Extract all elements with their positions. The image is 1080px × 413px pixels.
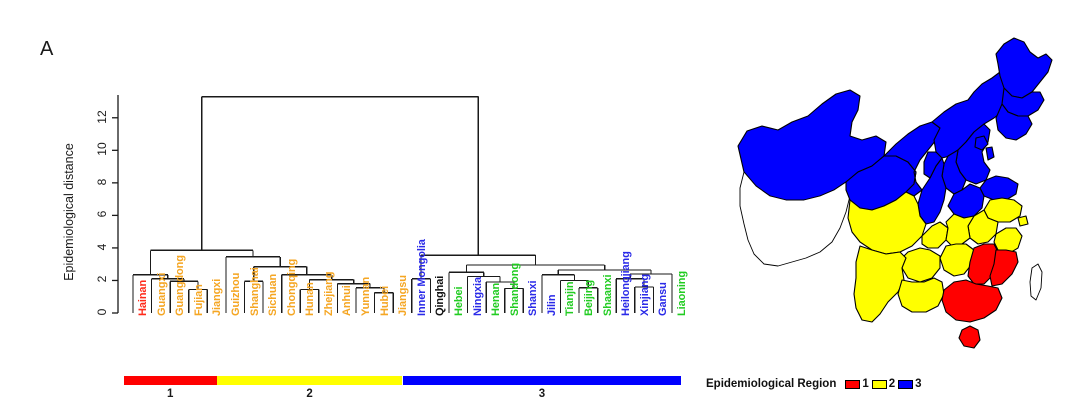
dendrogram-leaf-label: Shandong: [509, 263, 521, 316]
map-legend-key-label: 2: [889, 378, 895, 390]
dendrogram-leaf-label: Hubei: [379, 286, 391, 316]
group-color-bar: [217, 376, 403, 385]
dendrogram-leaf-label: Beijing: [583, 280, 595, 316]
map-legend-swatch: [898, 380, 913, 389]
dendrogram-leaf-label: Liaoning: [676, 271, 688, 316]
map-legend: Epidemiological Region 123: [706, 378, 925, 390]
dendrogram-leaf-label: Hainan: [137, 280, 149, 316]
panel-b-map: B Epidemiological Region 123: [700, 0, 1080, 413]
map-province-taiwan: [1030, 264, 1042, 300]
dendrogram-leaf-label: Chongqing: [286, 259, 298, 316]
group-color-bar-label: 1: [124, 388, 217, 400]
dendrogram-leaf-label: Yunnan: [360, 277, 372, 316]
map-province-guizhou: [902, 248, 940, 282]
dendrogram-leaf-label: Hebei: [453, 287, 465, 316]
dendrogram-leaf-label: Ningxia: [472, 277, 484, 316]
map-province-tianjin: [986, 147, 994, 160]
map-province-hainan: [959, 326, 980, 348]
map-legend-swatch: [845, 380, 860, 389]
group-color-bar-label: 2: [217, 388, 403, 400]
figure-root: A Epidemiological distance 024681012 Hai…: [0, 0, 1080, 413]
map-legend-key: 1: [845, 378, 868, 390]
dendrogram-leaf-label: Shanxi: [527, 281, 539, 316]
map-province-shanghai: [1018, 216, 1028, 226]
china-choropleth-map: [700, 0, 1080, 413]
dendrogram-leaf-label: Qinghai: [434, 276, 446, 316]
dendrogram-leaf-label: Zhejiang: [323, 272, 335, 316]
dendrogram-leaf-label: Henan: [490, 283, 502, 316]
dendrogram-leaf-label: Guangdong: [174, 255, 186, 316]
map-legend-key-label: 3: [915, 378, 921, 390]
dendrogram-leaf-label: Guizhou: [230, 273, 242, 316]
dendrogram-leaf-label: Anhui: [341, 285, 353, 316]
map-legend-key: 2: [872, 378, 895, 390]
dendrogram-plot: [0, 0, 700, 413]
dendrogram-leaf-label: Heilongjiang: [620, 251, 632, 316]
map-province-guangxi: [898, 278, 944, 312]
map-legend-title: Epidemiological Region: [706, 378, 836, 390]
dendrogram-leaf-label: Fujian: [193, 284, 205, 316]
map-province-shandong: [980, 176, 1018, 200]
map-legend-swatch: [872, 380, 887, 389]
dendrogram-leaf-label: Shanghai: [249, 267, 261, 316]
group-color-bar: [403, 376, 682, 385]
dendrogram-leaf-label: Inner Mongolia: [416, 239, 428, 316]
dendrogram-leaf-label: Hunan: [304, 282, 316, 316]
group-color-bar: [124, 376, 217, 385]
group-color-bar-label: 3: [403, 388, 682, 400]
dendrogram-leaf-label: Gansu: [657, 282, 669, 316]
dendrogram-leaf-label: Tianjin: [564, 281, 576, 316]
map-legend-keys: 123: [845, 378, 924, 390]
dendrogram-leaf-label: Shaanxi: [602, 275, 614, 317]
map-legend-key: 3: [898, 378, 921, 390]
map-province-yunnan: [854, 246, 906, 322]
map-legend-key-label: 1: [862, 378, 868, 390]
dendrogram-leaf-label: Jiangxi: [211, 279, 223, 316]
dendrogram-leaf-label: Guangxi: [156, 273, 168, 316]
dendrogram-leaf-label: Jiangsu: [397, 275, 409, 316]
dendrogram-leaf-label: Xinjiang: [639, 274, 651, 316]
panel-a-dendrogram: A Epidemiological distance 024681012 Hai…: [0, 0, 700, 413]
dendrogram-leaf-label: Jilin: [546, 294, 558, 316]
dendrogram-leaf-label: Sichuan: [267, 274, 279, 316]
